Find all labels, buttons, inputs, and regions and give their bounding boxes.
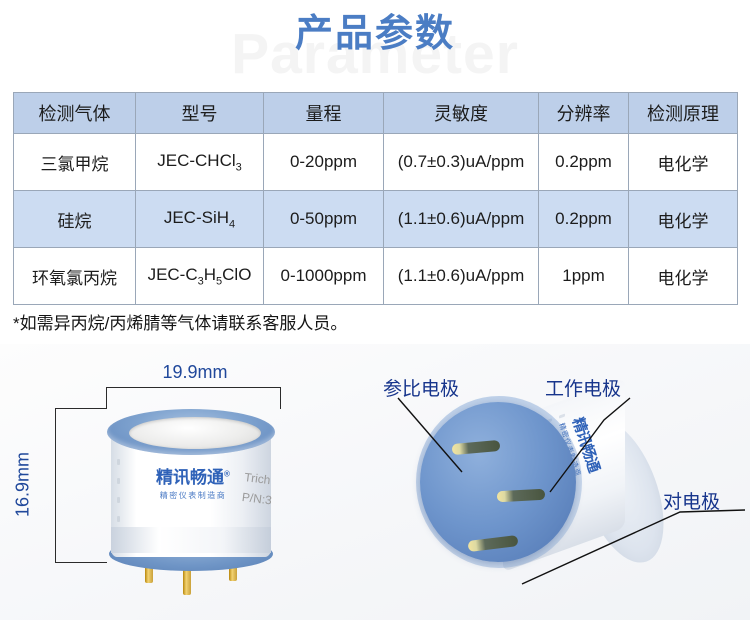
model-text: JEC-SiH (164, 208, 229, 227)
height-dimension-tick-bottom (55, 562, 107, 563)
width-dimension-line (106, 387, 281, 388)
parameter-table-wrapper: 检测气体 型号 量程 灵敏度 分辨率 检测原理 三氯甲烷 JEC-CHCl3 0… (13, 92, 737, 305)
registered-mark: ® (224, 469, 230, 478)
table-footnote: *如需异丙烷/丙烯腈等气体请联系客服人员。 (13, 309, 347, 334)
table-row: 环氧氯丙烷 JEC-C3H5ClO 0-1000ppm (1.1±0.6)uA/… (14, 248, 738, 305)
sensor-body-bottom-shade (111, 527, 271, 553)
column-header-range: 量程 (264, 93, 384, 134)
table-header-row: 检测气体 型号 量程 灵敏度 分辨率 检测原理 (14, 93, 738, 134)
cell-sensitivity: (0.7±0.3)uA/ppm (384, 134, 539, 191)
cell-principle: 电化学 (629, 134, 738, 191)
height-dimension-label: 16.9mm (13, 425, 34, 545)
column-header-sensitivity: 灵敏度 (384, 93, 539, 134)
model-text-mid: H (204, 265, 216, 284)
cell-gas: 硅烷 (14, 191, 136, 248)
brand-slogan: 精密仪表制造商 (145, 490, 241, 501)
product-parameter-page: Parameter 产品参数 检测气体 型号 量程 灵敏度 分辨率 检测原理 三 (0, 0, 750, 620)
width-dimension-tick-left (106, 387, 107, 409)
sensor-side-text-line2: P/N:3 (241, 487, 277, 511)
callout-label-reference-electrode: 参比电极 (383, 374, 459, 401)
cell-gas: 环氧氯丙烷 (14, 248, 136, 305)
model-text: JEC-CHCl (157, 151, 235, 170)
sensor-side-text: Trich P/N:3 (241, 467, 280, 512)
sensor-membrane (129, 417, 261, 449)
table-row: 硅烷 JEC-SiH4 0-50ppm (1.1±0.6)uA/ppm 0.2p… (14, 191, 738, 248)
model-subscript: 3 (236, 161, 242, 173)
page-title: 产品参数 (0, 14, 750, 56)
product-photo-area: 19.9mm 16.9mm 精讯畅通® 精密仪表制造商 Trich P/N:3 (0, 344, 750, 620)
height-dimension-line (55, 408, 56, 563)
model-text-suffix: ClO (222, 265, 251, 284)
parameter-table: 检测气体 型号 量程 灵敏度 分辨率 检测原理 三氯甲烷 JEC-CHCl3 0… (13, 92, 738, 305)
brand-name: 精讯畅通 (156, 468, 224, 487)
cell-resolution: 0.2ppm (539, 134, 629, 191)
column-header-resolution: 分辨率 (539, 93, 629, 134)
sensor-electrode-view: 精讯畅通 精密仪表制造商 (415, 380, 665, 595)
model-text: JEC-C (148, 265, 198, 284)
width-dimension-label: 19.9mm (120, 362, 270, 383)
width-dimension-tick-right (280, 387, 281, 409)
sensor-top-ring (107, 409, 275, 455)
cell-range: 0-20ppm (264, 134, 384, 191)
cell-gas: 三氯甲烷 (14, 134, 136, 191)
cell-model: JEC-C3H5ClO (136, 248, 264, 305)
cell-principle: 电化学 (629, 191, 738, 248)
column-header-model: 型号 (136, 93, 264, 134)
table-row: 三氯甲烷 JEC-CHCl3 0-20ppm (0.7±0.3)uA/ppm 0… (14, 134, 738, 191)
sensor-vent-group (117, 459, 120, 535)
model-subscript: 4 (229, 218, 235, 230)
cell-resolution: 1ppm (539, 248, 629, 305)
column-header-principle: 检测原理 (629, 93, 738, 134)
cell-range: 0-1000ppm (264, 248, 384, 305)
cell-model: JEC-SiH4 (136, 191, 264, 248)
page-header: Parameter 产品参数 (0, 4, 750, 84)
cell-range: 0-50ppm (264, 191, 384, 248)
sensor-front-view: 精讯畅通® 精密仪表制造商 Trich P/N:3 (103, 407, 279, 587)
cell-sensitivity: (1.1±0.6)uA/ppm (384, 248, 539, 305)
cell-sensitivity: (1.1±0.6)uA/ppm (384, 191, 539, 248)
callout-label-working-electrode: 工作电极 (545, 374, 621, 401)
height-dimension-tick-top (55, 408, 107, 409)
cell-principle: 电化学 (629, 248, 738, 305)
callout-label-counter-electrode: 对电极 (663, 487, 720, 514)
column-header-gas: 检测气体 (14, 93, 136, 134)
cell-model: JEC-CHCl3 (136, 134, 264, 191)
cell-resolution: 0.2ppm (539, 191, 629, 248)
sensor-brand-logo: 精讯畅通® 精密仪表制造商 (145, 469, 241, 501)
